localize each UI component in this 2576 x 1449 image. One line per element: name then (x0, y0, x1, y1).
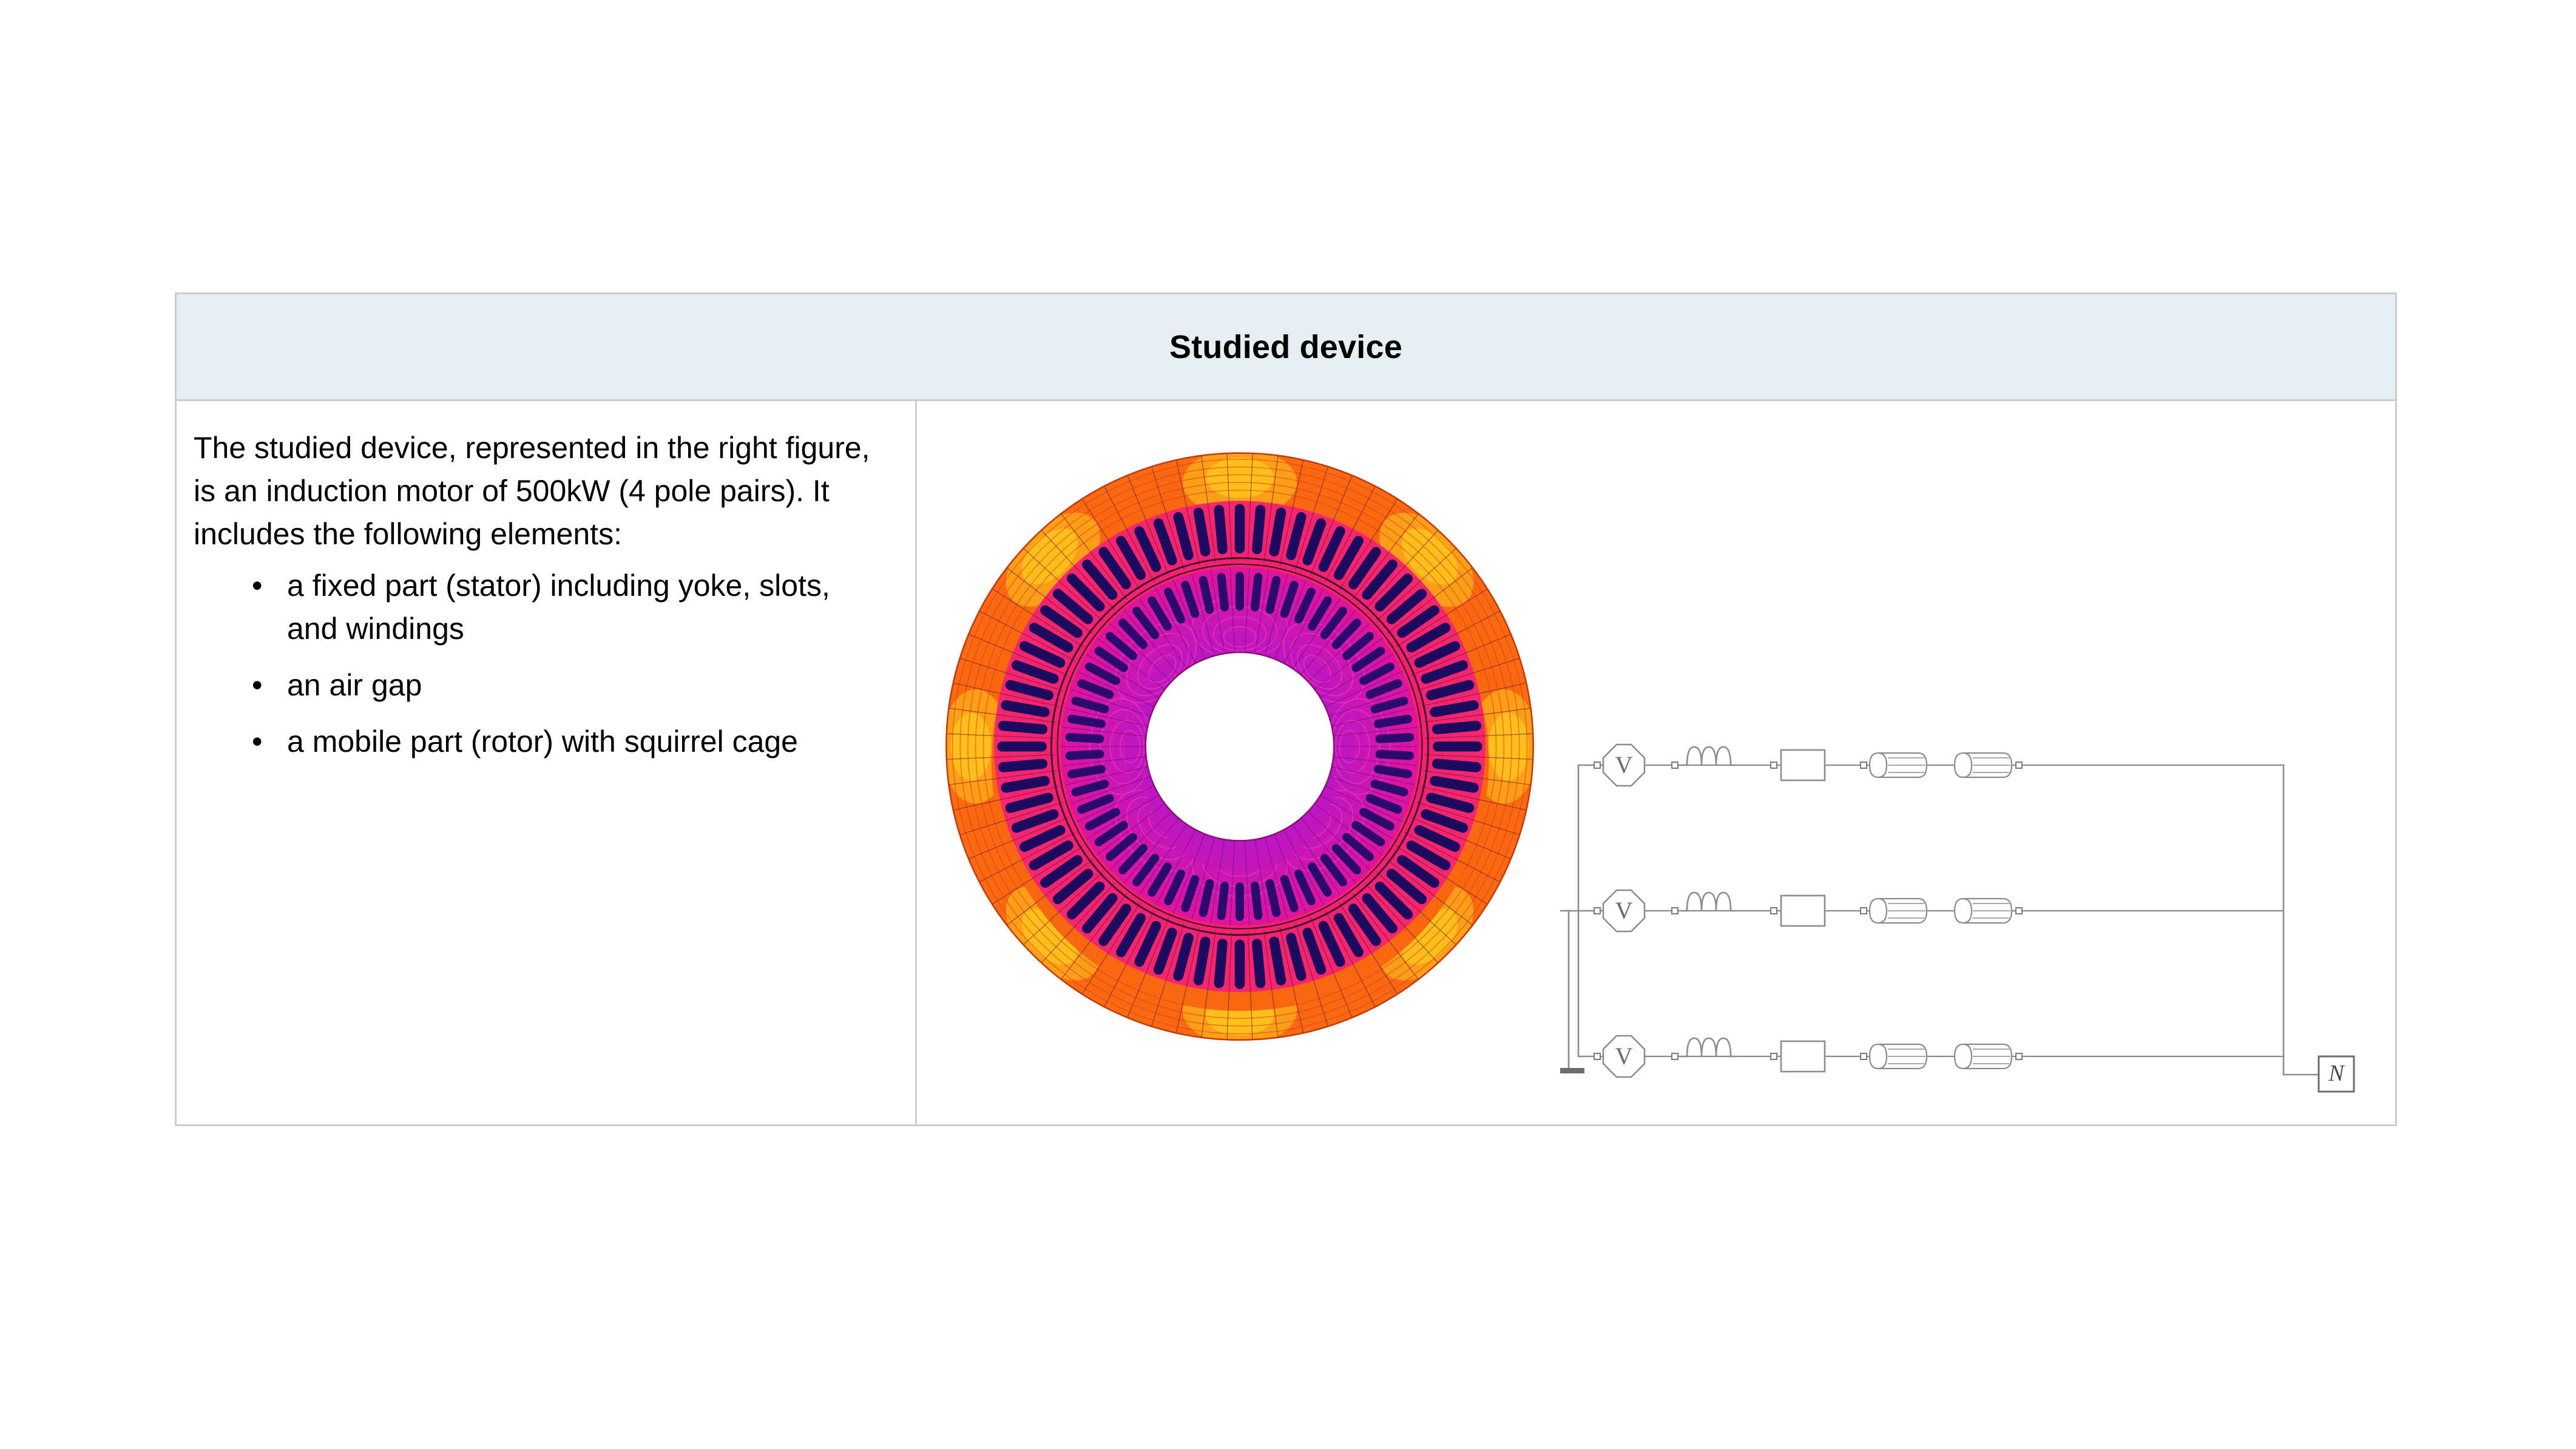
list-item-label: an air gap (287, 668, 422, 702)
studied-device-panel: Studied device The studied device, repre… (175, 292, 2397, 1126)
terminal-marker-1 (1672, 1053, 1678, 1059)
list-item: • a fixed part (stator) including yoke, … (252, 564, 865, 650)
ground-icon (1560, 1068, 1584, 1073)
resistor-1 (1781, 750, 1825, 780)
panel-body: The studied device, represented in the r… (177, 401, 2395, 1124)
terminal-marker-0 (1594, 908, 1600, 914)
voltage-source-2 (1603, 890, 1645, 931)
terminal-marker-1 (1672, 908, 1678, 914)
winding-coil-b-1 (1955, 753, 2012, 777)
terminal-marker-4 (2016, 762, 2022, 768)
terminal-marker-4 (2016, 1053, 2022, 1059)
slot-bar (1235, 504, 1245, 553)
winding-coil-a-1 (1870, 753, 1927, 777)
terminal-marker-3 (1861, 1053, 1867, 1059)
motor-flux-plot-svg (930, 414, 1549, 1094)
neutral-node-label: N (2328, 1061, 2345, 1086)
slot-bar (1236, 572, 1244, 611)
resistor-3 (1781, 1041, 1825, 1072)
resistor-2 (1781, 896, 1825, 926)
description-cell: The studied device, represented in the r… (177, 401, 917, 1124)
phase-rows (1594, 745, 2284, 1077)
phase-row (1594, 745, 2284, 786)
inductor-2 (1681, 893, 1737, 911)
list-item: • a mobile part (rotor) with squirrel ca… (252, 720, 865, 763)
three-phase-circuit-figure: N V (1560, 729, 2367, 1093)
page-title: Studied device (1169, 328, 1402, 366)
bullet-icon: • (252, 720, 263, 763)
slot-bar (1433, 741, 1482, 752)
winding-coil-a-2 (1870, 899, 1927, 923)
winding-coil-b-3 (1955, 1044, 2012, 1069)
bullet-icon: • (252, 664, 263, 707)
slot-bar (1235, 939, 1245, 988)
list-item-label: a fixed part (stator) including yoke, sl… (287, 569, 830, 646)
phase-row (1594, 890, 2284, 931)
panel-header: Studied device (177, 294, 2395, 401)
inductor-3 (1681, 1038, 1737, 1056)
terminal-marker-0 (1594, 762, 1600, 768)
list-item: • an air gap (252, 664, 865, 707)
phase-row (1594, 1036, 2284, 1077)
bullet-icon: • (252, 564, 263, 607)
terminal-marker-2 (1771, 908, 1777, 914)
slot-bar (997, 741, 1046, 752)
list-item-label: a mobile part (rotor) with squirrel cage (287, 724, 798, 758)
voltage-source-3 (1603, 1036, 1645, 1077)
device-elements-list: • a fixed part (stator) including yoke, … (194, 564, 891, 763)
shaft-bore (1146, 652, 1334, 841)
terminal-marker-3 (1861, 908, 1867, 914)
terminal-marker-1 (1672, 762, 1678, 768)
terminal-marker-3 (1861, 762, 1867, 768)
winding-coil-a-3 (1870, 1044, 1927, 1069)
terminal-marker-4 (2016, 908, 2022, 914)
slot-bar (1236, 882, 1244, 921)
description-paragraph: The studied device, represented in the r… (194, 427, 891, 556)
circuit-diagram-svg: N V (1560, 729, 2367, 1093)
voltage-source-1 (1603, 745, 1645, 786)
terminal-marker-2 (1771, 762, 1777, 768)
terminal-marker-0 (1594, 1053, 1600, 1059)
inductor-1 (1681, 747, 1737, 765)
winding-coil-b-2 (1955, 899, 2012, 923)
motor-cross-section-figure (930, 414, 1549, 1094)
figure-cell: N V (917, 401, 2395, 1124)
neutral-node: N (2319, 1056, 2354, 1092)
terminal-marker-2 (1771, 1053, 1777, 1059)
